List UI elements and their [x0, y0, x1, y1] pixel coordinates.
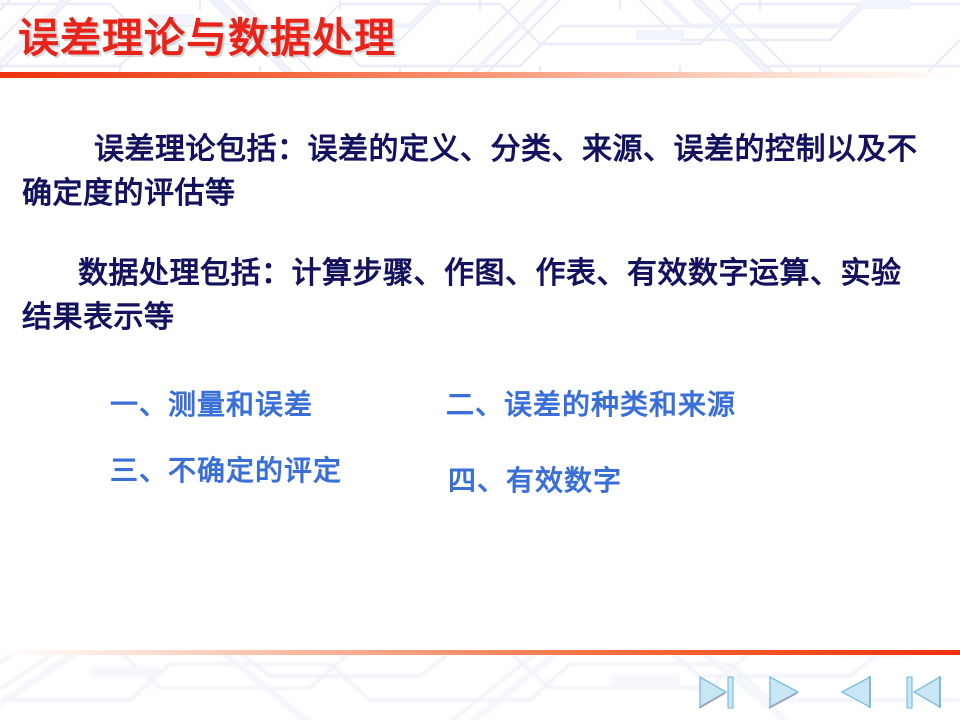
- skip-forward-icon: [694, 674, 738, 712]
- section-link-significant-figures[interactable]: 四、有效数字: [448, 462, 622, 500]
- section-link-measurement-and-error[interactable]: 一、测量和误差: [110, 386, 313, 424]
- last-slide-button[interactable]: [694, 674, 738, 712]
- previous-slide-button[interactable]: [834, 674, 878, 712]
- first-slide-button[interactable]: [902, 674, 946, 712]
- play-forward-icon: [762, 674, 806, 712]
- skip-back-icon: [902, 674, 946, 712]
- paragraph-data-processing: 数据处理包括：计算步骤、作图、作表、有效数字运算、实验结果表示等: [22, 252, 912, 340]
- next-slide-button[interactable]: [762, 674, 806, 712]
- title-divider-rule: [0, 72, 960, 78]
- play-back-icon: [834, 674, 878, 712]
- section-link-error-types-and-sources[interactable]: 二、误差的种类和来源: [446, 386, 736, 424]
- paragraph-error-theory: 误差理论包括：误差的定义、分类、来源、误差的控制以及不确定度的评估等: [22, 128, 922, 216]
- page-title: 误差理论与数据处理: [18, 12, 396, 64]
- section-link-uncertainty-evaluation[interactable]: 三、不确定的评定: [110, 452, 342, 490]
- footer-divider-rule: [0, 650, 960, 655]
- slide-canvas: 误差理论与数据处理 误差理论包括：误差的定义、分类、来源、误差的控制以及不确定度…: [0, 0, 960, 720]
- slide-navigation-bar: [694, 674, 952, 716]
